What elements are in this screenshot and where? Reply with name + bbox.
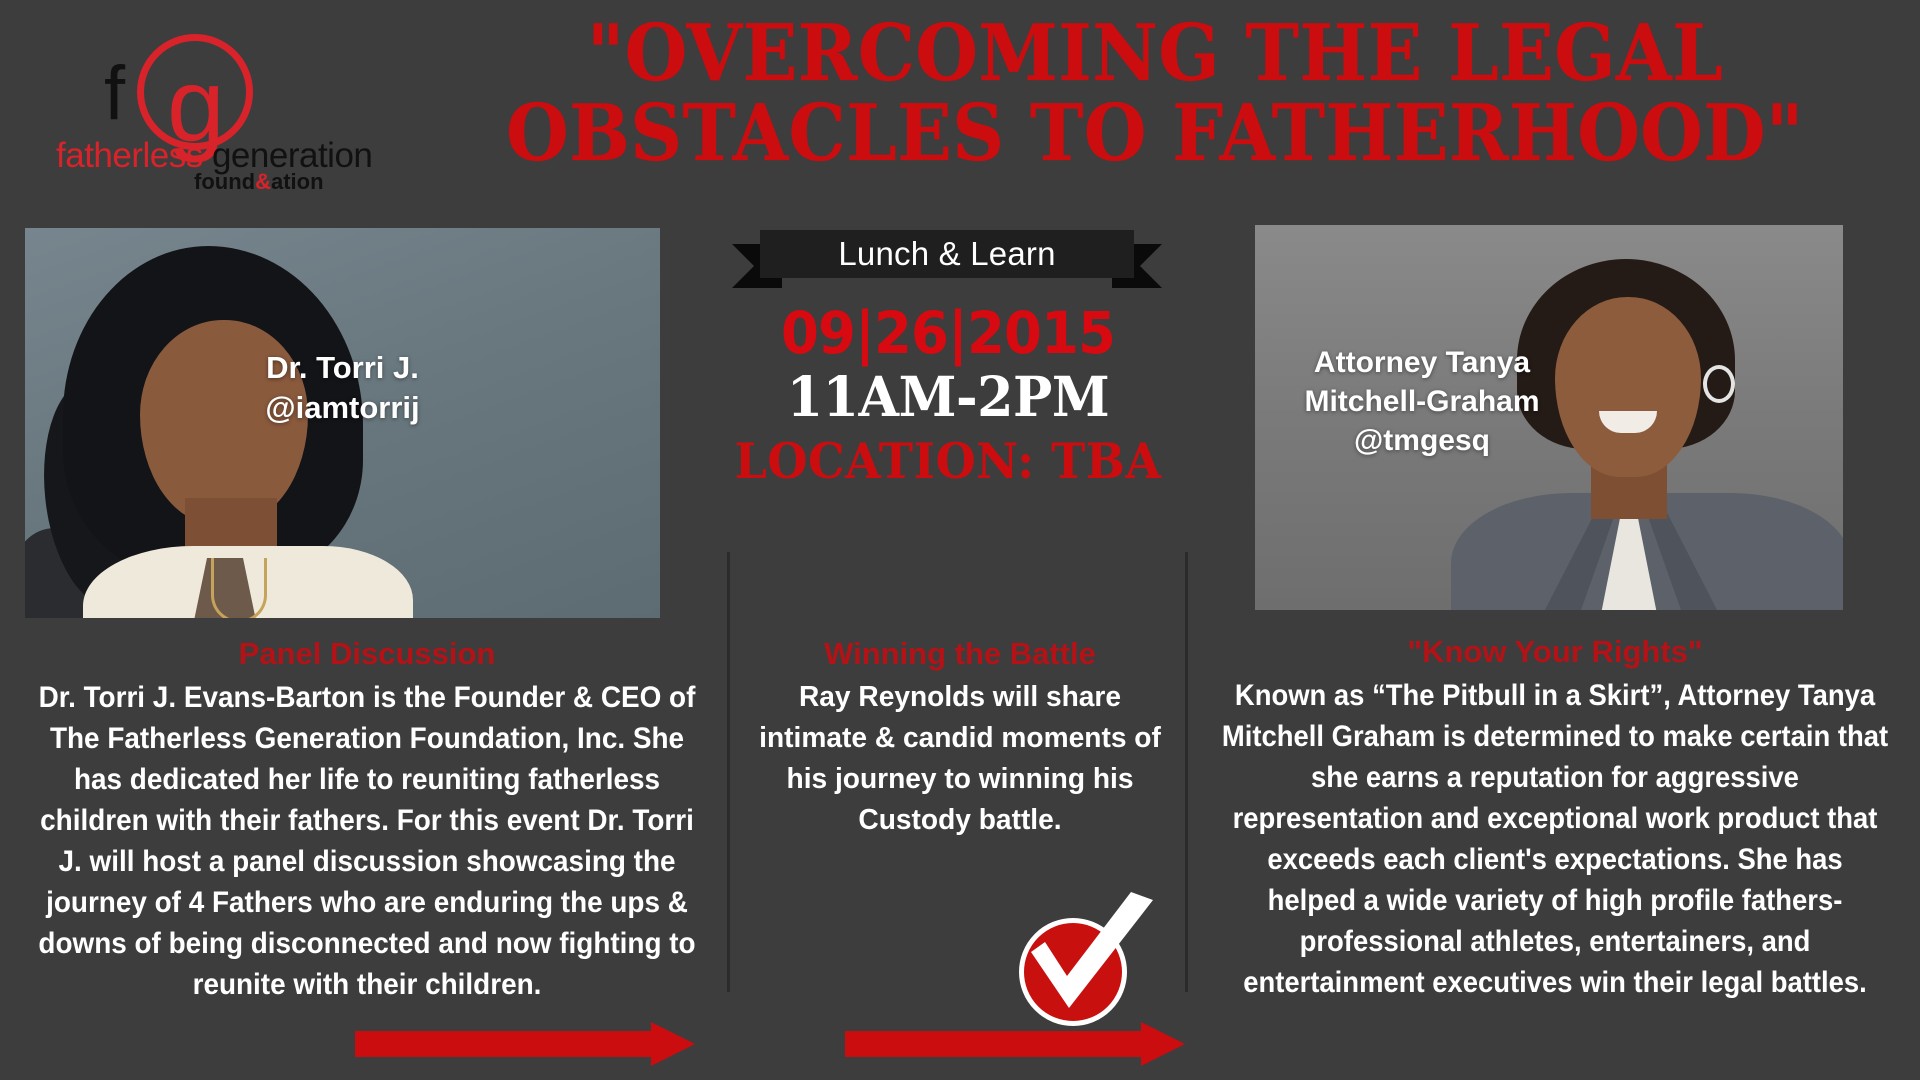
red-check-badge-icon	[1005, 890, 1165, 1030]
column-3-body: Known as “The Pitbull in a Skirt”, Attor…	[1221, 675, 1889, 1003]
fatherless-generation-logo: f g fatherless generation found&ation	[42, 28, 332, 168]
photo-right-face	[1555, 297, 1701, 477]
speaker-left-name: Dr. Torri J.	[25, 348, 660, 388]
speaker-right-name-line-1: Attorney Tanya	[1277, 343, 1567, 382]
flyer-title-line-1: "OVERCOMING THE LEGAL	[460, 14, 1849, 94]
speaker-left-handle: @iamtorrij	[25, 388, 660, 428]
lunch-and-learn-banner: Lunch & Learn	[732, 230, 1162, 288]
arrow-1-shaft	[355, 1031, 655, 1057]
event-flyer: f g fatherless generation found&ation "O…	[0, 0, 1920, 1080]
speaker-left-caption: Dr. Torri J. @iamtorrij	[25, 348, 660, 428]
logo-word-fatherless: fatherless	[56, 136, 212, 175]
event-date: 09|26|2015	[715, 300, 1181, 366]
column-panel-discussion: Panel Discussion Dr. Torri J. Evans-Bart…	[8, 636, 726, 1005]
flyer-title: "OVERCOMING THE LEGAL OBSTACLES TO FATHE…	[460, 14, 1849, 174]
flyer-title-line-2: OBSTACLES TO FATHERHOOD"	[460, 94, 1849, 174]
logo-sub-ation: ation	[271, 169, 324, 194]
red-arrow-right-icon-2	[845, 1022, 1185, 1066]
logo-sub-amp: &	[255, 169, 271, 194]
speaker-photo-right: Attorney Tanya Mitchell-Graham @tmgesq	[1255, 225, 1843, 610]
photo-right-earring-icon	[1703, 365, 1735, 403]
event-details: 09|26|2015 11AM-2PM LOCATION: TBA	[700, 300, 1196, 494]
speaker-right-caption: Attorney Tanya Mitchell-Graham @tmgesq	[1277, 343, 1567, 460]
banner-label: Lunch & Learn	[838, 235, 1055, 273]
column-divider-1	[727, 552, 730, 992]
column-2-heading: Winning the Battle	[740, 636, 1180, 672]
column-3-heading: "Know Your Rights"	[1196, 634, 1914, 670]
logo-sub-found: found	[194, 169, 255, 194]
arrow-1-head	[651, 1022, 695, 1066]
logo-wordmark: fatherless generation	[56, 138, 372, 173]
column-know-your-rights: "Know Your Rights" Known as “The Pitbull…	[1196, 634, 1914, 1003]
column-divider-2	[1185, 552, 1188, 992]
arrow-2-shaft	[845, 1031, 1145, 1057]
logo-subword-foundation: found&ation	[194, 171, 324, 193]
arrow-2-head	[1141, 1022, 1185, 1066]
red-arrow-right-icon-1	[355, 1022, 695, 1066]
banner-body: Lunch & Learn	[760, 230, 1134, 278]
column-winning-the-battle: Winning the Battle Ray Reynolds will sha…	[740, 636, 1180, 841]
column-1-body: Dr. Torri J. Evans-Barton is the Founder…	[33, 677, 701, 1005]
column-1-heading: Panel Discussion	[8, 636, 726, 672]
logo-letter-f: f	[104, 56, 125, 132]
event-time: 11AM-2PM	[712, 366, 1183, 428]
column-2-body: Ray Reynolds will share intimate & candi…	[747, 677, 1174, 841]
speaker-right-handle: @tmgesq	[1277, 421, 1567, 460]
event-location: LOCATION: TBA	[715, 428, 1181, 494]
photo-left-necklace	[211, 558, 267, 618]
speaker-photo-left: Dr. Torri J. @iamtorrij	[25, 228, 660, 618]
check-mark-icon	[1011, 890, 1161, 1030]
speaker-right-name-line-2: Mitchell-Graham	[1277, 382, 1567, 421]
